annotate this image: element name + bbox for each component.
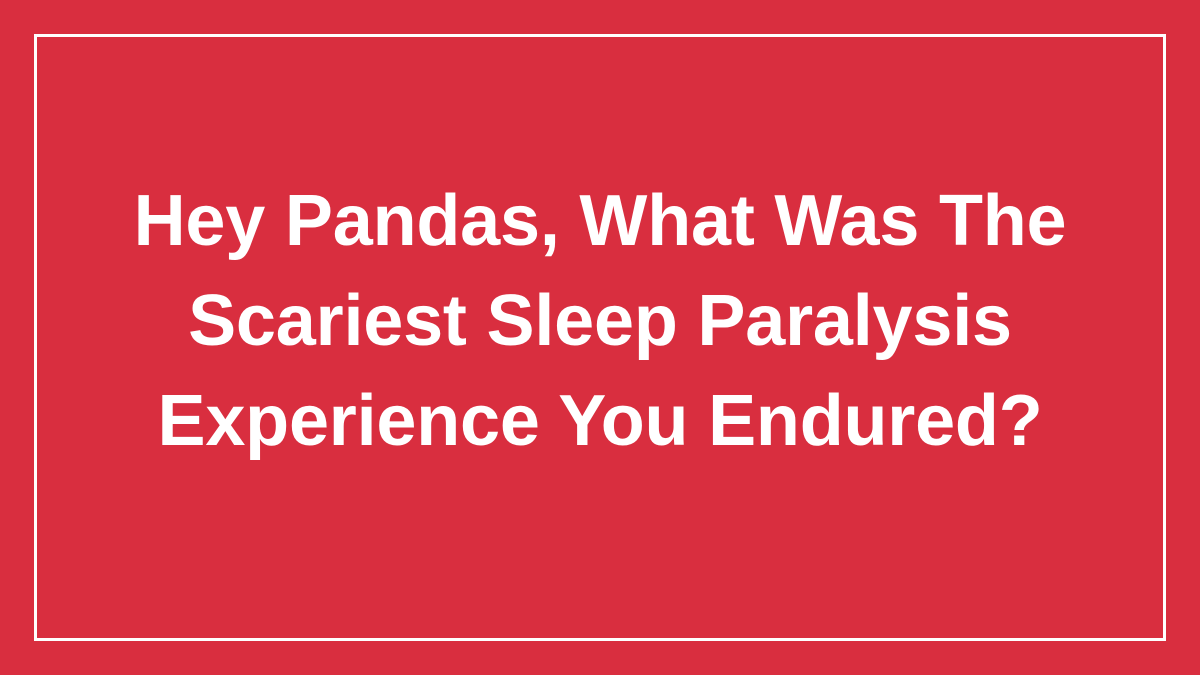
page-title: Hey Pandas, What Was The Scariest Sleep … [134, 171, 1067, 471]
headline-line-2: Scariest Sleep Paralysis [134, 271, 1067, 371]
headline-line-1: Hey Pandas, What Was The [134, 171, 1067, 271]
poster-canvas: Hey Pandas, What Was The Scariest Sleep … [0, 0, 1200, 675]
headline-block: Hey Pandas, What Was The Scariest Sleep … [34, 34, 1166, 641]
headline-line-3: Experience You Endured? [134, 371, 1067, 471]
